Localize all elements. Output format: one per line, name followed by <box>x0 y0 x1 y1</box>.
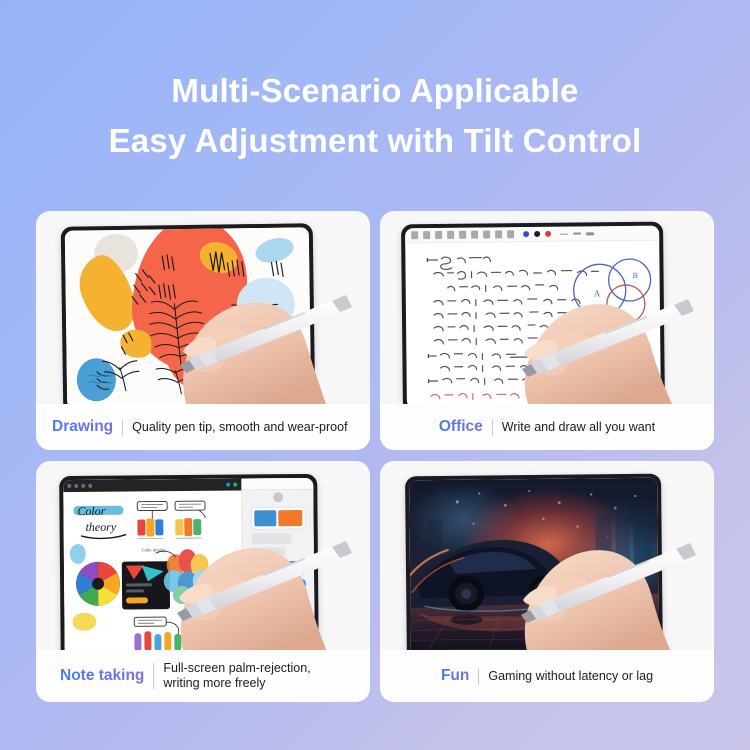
promo-page: Multi-Scenario Applicable Easy Adjustmen… <box>0 0 750 750</box>
page-title: Multi-Scenario Applicable Easy Adjustmen… <box>0 66 750 166</box>
split-screen: Color theory <box>63 478 315 650</box>
tablet-screen-office: A B <box>405 226 661 404</box>
weight-medium-icon[interactable] <box>573 232 581 234</box>
svg-text:Color mixing: Color mixing <box>142 547 167 552</box>
art-line-drawings <box>65 227 311 404</box>
toolbar-icon[interactable] <box>67 484 71 488</box>
messages-thread <box>242 489 315 640</box>
feature-card-fun[interactable]: Fun Gaming without latency or lag <box>380 461 714 702</box>
ui-mockup-panel <box>122 561 170 609</box>
tablet-device-drawing <box>61 223 316 404</box>
caption-drawing: Drawing Quality pen tip, smooth and wear… <box>36 404 370 450</box>
toolbar-icon[interactable] <box>81 484 85 488</box>
card-media-note-taking: Color theory <box>36 461 370 650</box>
tablet-device-office: A B <box>401 222 665 404</box>
tag-warm-colors <box>175 501 205 518</box>
tool-lasso-icon[interactable] <box>471 231 478 239</box>
color-swatch-blue[interactable] <box>523 231 529 237</box>
game-artwork <box>409 478 659 650</box>
weight-thick-icon[interactable] <box>586 232 594 235</box>
swatch-row-warm <box>175 518 201 538</box>
tablet-device-note-taking: Color theory <box>59 474 319 650</box>
svg-text:Color: Color <box>77 504 105 518</box>
caption-fun: Fun Gaming without latency or lag <box>380 650 714 702</box>
card-media-office: A B <box>380 211 714 404</box>
color-theory-canvas: Color theory <box>63 491 242 650</box>
tool-grid-icon[interactable] <box>507 230 514 238</box>
svg-text:A: A <box>594 288 601 298</box>
svg-text:B: B <box>633 271 638 280</box>
feature-card-drawing[interactable]: Drawing Quality pen tip, smooth and wear… <box>36 211 370 450</box>
svg-text:theory: theory <box>85 520 116 534</box>
swatch-row-primary <box>137 518 163 538</box>
card-label-drawing: Drawing <box>52 418 113 436</box>
toolbar-pen-icon[interactable] <box>226 483 230 487</box>
tool-pen-icon[interactable] <box>423 231 430 239</box>
caption-divider <box>478 668 479 685</box>
caption-divider <box>153 663 154 689</box>
tag-primary-colors <box>137 501 167 518</box>
tool-eraser-icon[interactable] <box>459 231 466 239</box>
tablet-screen-fun <box>409 478 659 650</box>
tool-select-icon[interactable] <box>411 231 418 239</box>
card-text-drawing: Quality pen tip, smooth and wear-proof <box>132 420 347 435</box>
watercolor-blobs <box>164 549 211 604</box>
caption-note-taking: Note taking Full-screen palm-rejection, … <box>36 650 370 702</box>
card-text-office: Write and draw all you want <box>502 420 655 435</box>
color-swatch-black[interactable] <box>534 231 540 237</box>
tablet-device-fun <box>405 474 663 650</box>
tool-highlighter-icon[interactable] <box>435 231 442 239</box>
marker-row <box>134 631 181 650</box>
card-label-office: Office <box>439 418 483 436</box>
feature-card-note-taking[interactable]: Color theory <box>36 461 370 702</box>
color-swatch-red[interactable] <box>545 231 551 237</box>
color-wheel <box>76 562 120 606</box>
venn-diagram: A B <box>573 259 651 324</box>
card-text-note-taking: Full-screen palm-rejection, writing more… <box>163 661 310 691</box>
tablet-screen-note-taking: Color theory <box>63 478 315 650</box>
toolbar-icon[interactable] <box>88 484 92 488</box>
card-media-drawing <box>36 211 370 404</box>
card-label-note-taking: Note taking <box>60 667 144 685</box>
card-label-fun: Fun <box>441 667 469 685</box>
messages-dock[interactable] <box>243 646 315 650</box>
tool-text-icon[interactable] <box>495 230 502 238</box>
caption-divider <box>122 419 123 436</box>
racing-game-scene <box>409 478 659 650</box>
toolbar-icon[interactable] <box>74 484 78 488</box>
feature-card-office[interactable]: A B <box>380 211 714 450</box>
tool-pencil-icon[interactable] <box>447 231 454 239</box>
headline-line-2: Easy Adjustment with Tilt Control <box>0 116 750 166</box>
card-media-fun <box>380 461 714 650</box>
toolbar-share-icon[interactable] <box>233 483 237 487</box>
headline-line-1: Multi-Scenario Applicable <box>0 66 750 116</box>
tool-shape-icon[interactable] <box>483 230 490 238</box>
caption-office: Office Write and draw all you want <box>380 404 714 450</box>
tablet-screen-drawing <box>65 227 311 404</box>
notes-app-pane: Color theory <box>63 479 243 650</box>
tag-base-color <box>134 617 179 634</box>
feature-card-grid: Drawing Quality pen tip, smooth and wear… <box>36 211 714 702</box>
card-text-fun: Gaming without latency or lag <box>488 669 653 684</box>
weight-thin-icon[interactable] <box>560 233 568 234</box>
caption-divider <box>492 419 493 436</box>
handwritten-notes: A B <box>405 241 661 404</box>
messages-app-pane <box>242 478 315 650</box>
